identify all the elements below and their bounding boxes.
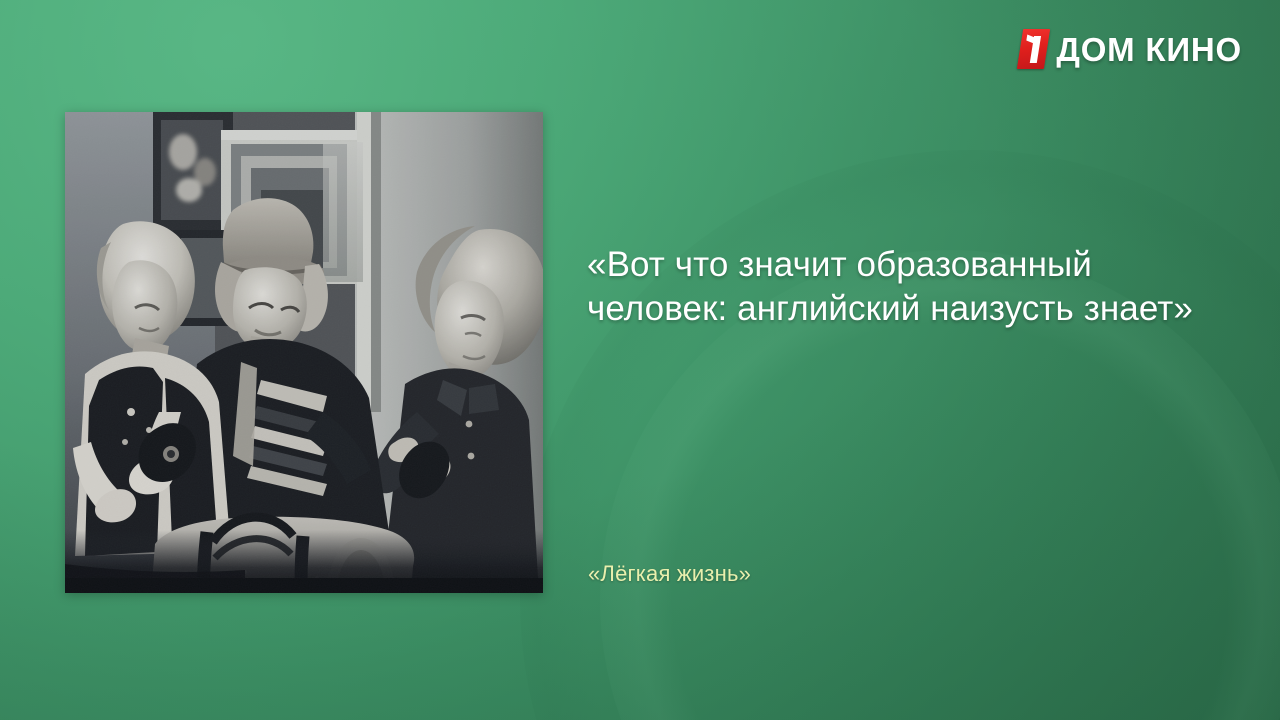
channel-one-red-mark-icon [1017, 29, 1050, 69]
film-still-illustration [65, 112, 543, 593]
channel-logo: ДОМ КИНО [1020, 26, 1242, 72]
channel-logo-text: ДОМ КИНО [1056, 33, 1242, 66]
quote-card-screen: ДОМ КИНО [0, 0, 1280, 720]
quote-line-1: «Вот что значит образованный [587, 243, 1247, 287]
quote-text: «Вот что значит образованный человек: ан… [587, 243, 1247, 332]
film-title: «Лёгкая жизнь» [588, 561, 751, 587]
film-still-photo [65, 112, 543, 593]
quote-line-2: человек: английский наизусть знает» [587, 287, 1247, 331]
